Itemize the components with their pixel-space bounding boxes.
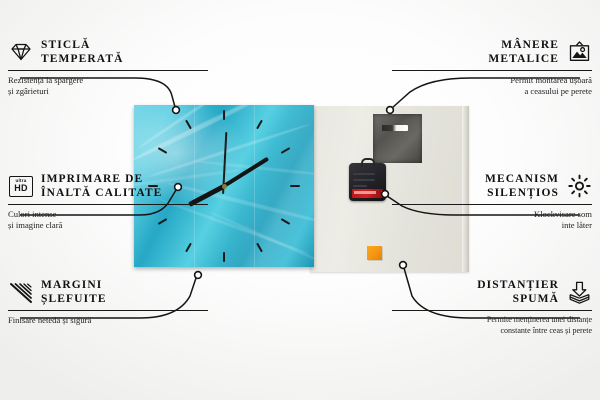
callout-silent-mechanism[interactable]: MECANISM SILENȚIOS Klockvisare som inte … <box>392 172 592 232</box>
battery <box>352 189 383 198</box>
metal-hanger <box>373 114 422 163</box>
callout-subtitle: Permit montarea ușoară a ceasului pe per… <box>392 75 592 98</box>
battery-label <box>354 191 376 194</box>
callout-metal-handles[interactable]: MÂNERE METALICE Permit montarea ușoară a… <box>392 38 592 98</box>
infographic-stage: STICLĂ TEMPERATĂ Rezistență la spargere … <box>0 0 600 400</box>
callout-subtitle: Permite menținerea unei distanțe constan… <box>392 315 592 337</box>
clock-mechanism <box>349 163 386 201</box>
mechanism-detail <box>353 173 375 175</box>
callout-rule <box>8 204 208 205</box>
callout-titles: DISTANȚIER SPUMĂ <box>477 278 559 307</box>
callout-title-1: IMPRIMARE DE <box>41 172 143 186</box>
callout-title-1: DISTANȚIER <box>477 278 559 292</box>
callout-titles: STICLĂ TEMPERATĂ <box>41 38 124 67</box>
callout-title-1: STICLĂ <box>41 38 90 52</box>
callout-titles: MECANISM SILENȚIOS <box>485 172 559 201</box>
callout-title-2: ȘLEFUITE <box>41 292 107 306</box>
mechanism-detail <box>353 179 375 181</box>
ultra-hd-icon: ultra HD <box>8 174 34 198</box>
callout-high-quality-print[interactable]: ultra HD IMPRIMARE DE ÎNALTĂ CALITATE Cu… <box>8 172 208 232</box>
callout-subtitle: Culori intense și imagine clară <box>8 209 208 232</box>
foam-spacer <box>367 246 382 260</box>
callout-head: MECANISM SILENȚIOS <box>392 172 592 201</box>
callout-title-1: MECANISM <box>485 172 559 186</box>
hour-marker <box>223 252 225 262</box>
callout-head: MÂNERE METALICE <box>392 38 592 67</box>
hanger-slot <box>382 125 408 131</box>
callout-title-2: SPUMĂ <box>513 292 559 306</box>
callout-rule <box>392 310 592 311</box>
callout-head: MARGINI ȘLEFUITE <box>8 278 208 307</box>
callout-rule <box>8 310 208 311</box>
callout-rule <box>8 70 208 71</box>
callout-title-2: SILENȚIOS <box>487 186 559 200</box>
callout-subtitle: Finisare netedă și sigură <box>8 315 208 327</box>
callout-title-1: MARGINI <box>41 278 102 292</box>
callout-tempered-glass[interactable]: STICLĂ TEMPERATĂ Rezistență la spargere … <box>8 38 208 98</box>
hour-marker <box>223 110 225 120</box>
callout-subtitle: Rezistență la spargere și zgârieturi <box>8 75 208 98</box>
polished-edges-icon <box>8 280 34 304</box>
callout-foam-spacer[interactable]: DISTANȚIER SPUMĂ Permite menținerea unei… <box>392 278 592 336</box>
gear-icon <box>566 174 592 198</box>
diamond-icon <box>8 40 34 64</box>
callout-subtitle: Klockvisare som inte låter <box>392 209 592 232</box>
callout-title-2: ÎNALTĂ CALITATE <box>41 186 162 200</box>
callout-titles: IMPRIMARE DE ÎNALTĂ CALITATE <box>41 172 162 201</box>
callout-polished-edges[interactable]: MARGINI ȘLEFUITE Finisare netedă și sigu… <box>8 278 208 326</box>
callout-title-2: METALICE <box>488 52 559 66</box>
callout-head: ultra HD IMPRIMARE DE ÎNALTĂ CALITATE <box>8 172 208 201</box>
callout-title-1: MÂNERE <box>501 38 559 52</box>
mechanism-detail <box>353 185 367 187</box>
clock-center-pin <box>222 184 227 189</box>
mechanism-loop <box>361 158 375 167</box>
ultra-hd-icon-bottom-text: HD <box>14 184 28 193</box>
down-arrow-pad-icon <box>566 280 592 304</box>
picture-frame-icon <box>566 40 592 64</box>
callout-title-2: TEMPERATĂ <box>41 52 124 66</box>
callout-titles: MÂNERE METALICE <box>488 38 559 67</box>
hour-marker <box>290 185 300 187</box>
callout-titles: MARGINI ȘLEFUITE <box>41 278 107 307</box>
callout-head: DISTANȚIER SPUMĂ <box>392 278 592 307</box>
callout-rule <box>392 204 592 205</box>
callout-head: STICLĂ TEMPERATĂ <box>8 38 208 67</box>
callout-rule <box>392 70 592 71</box>
